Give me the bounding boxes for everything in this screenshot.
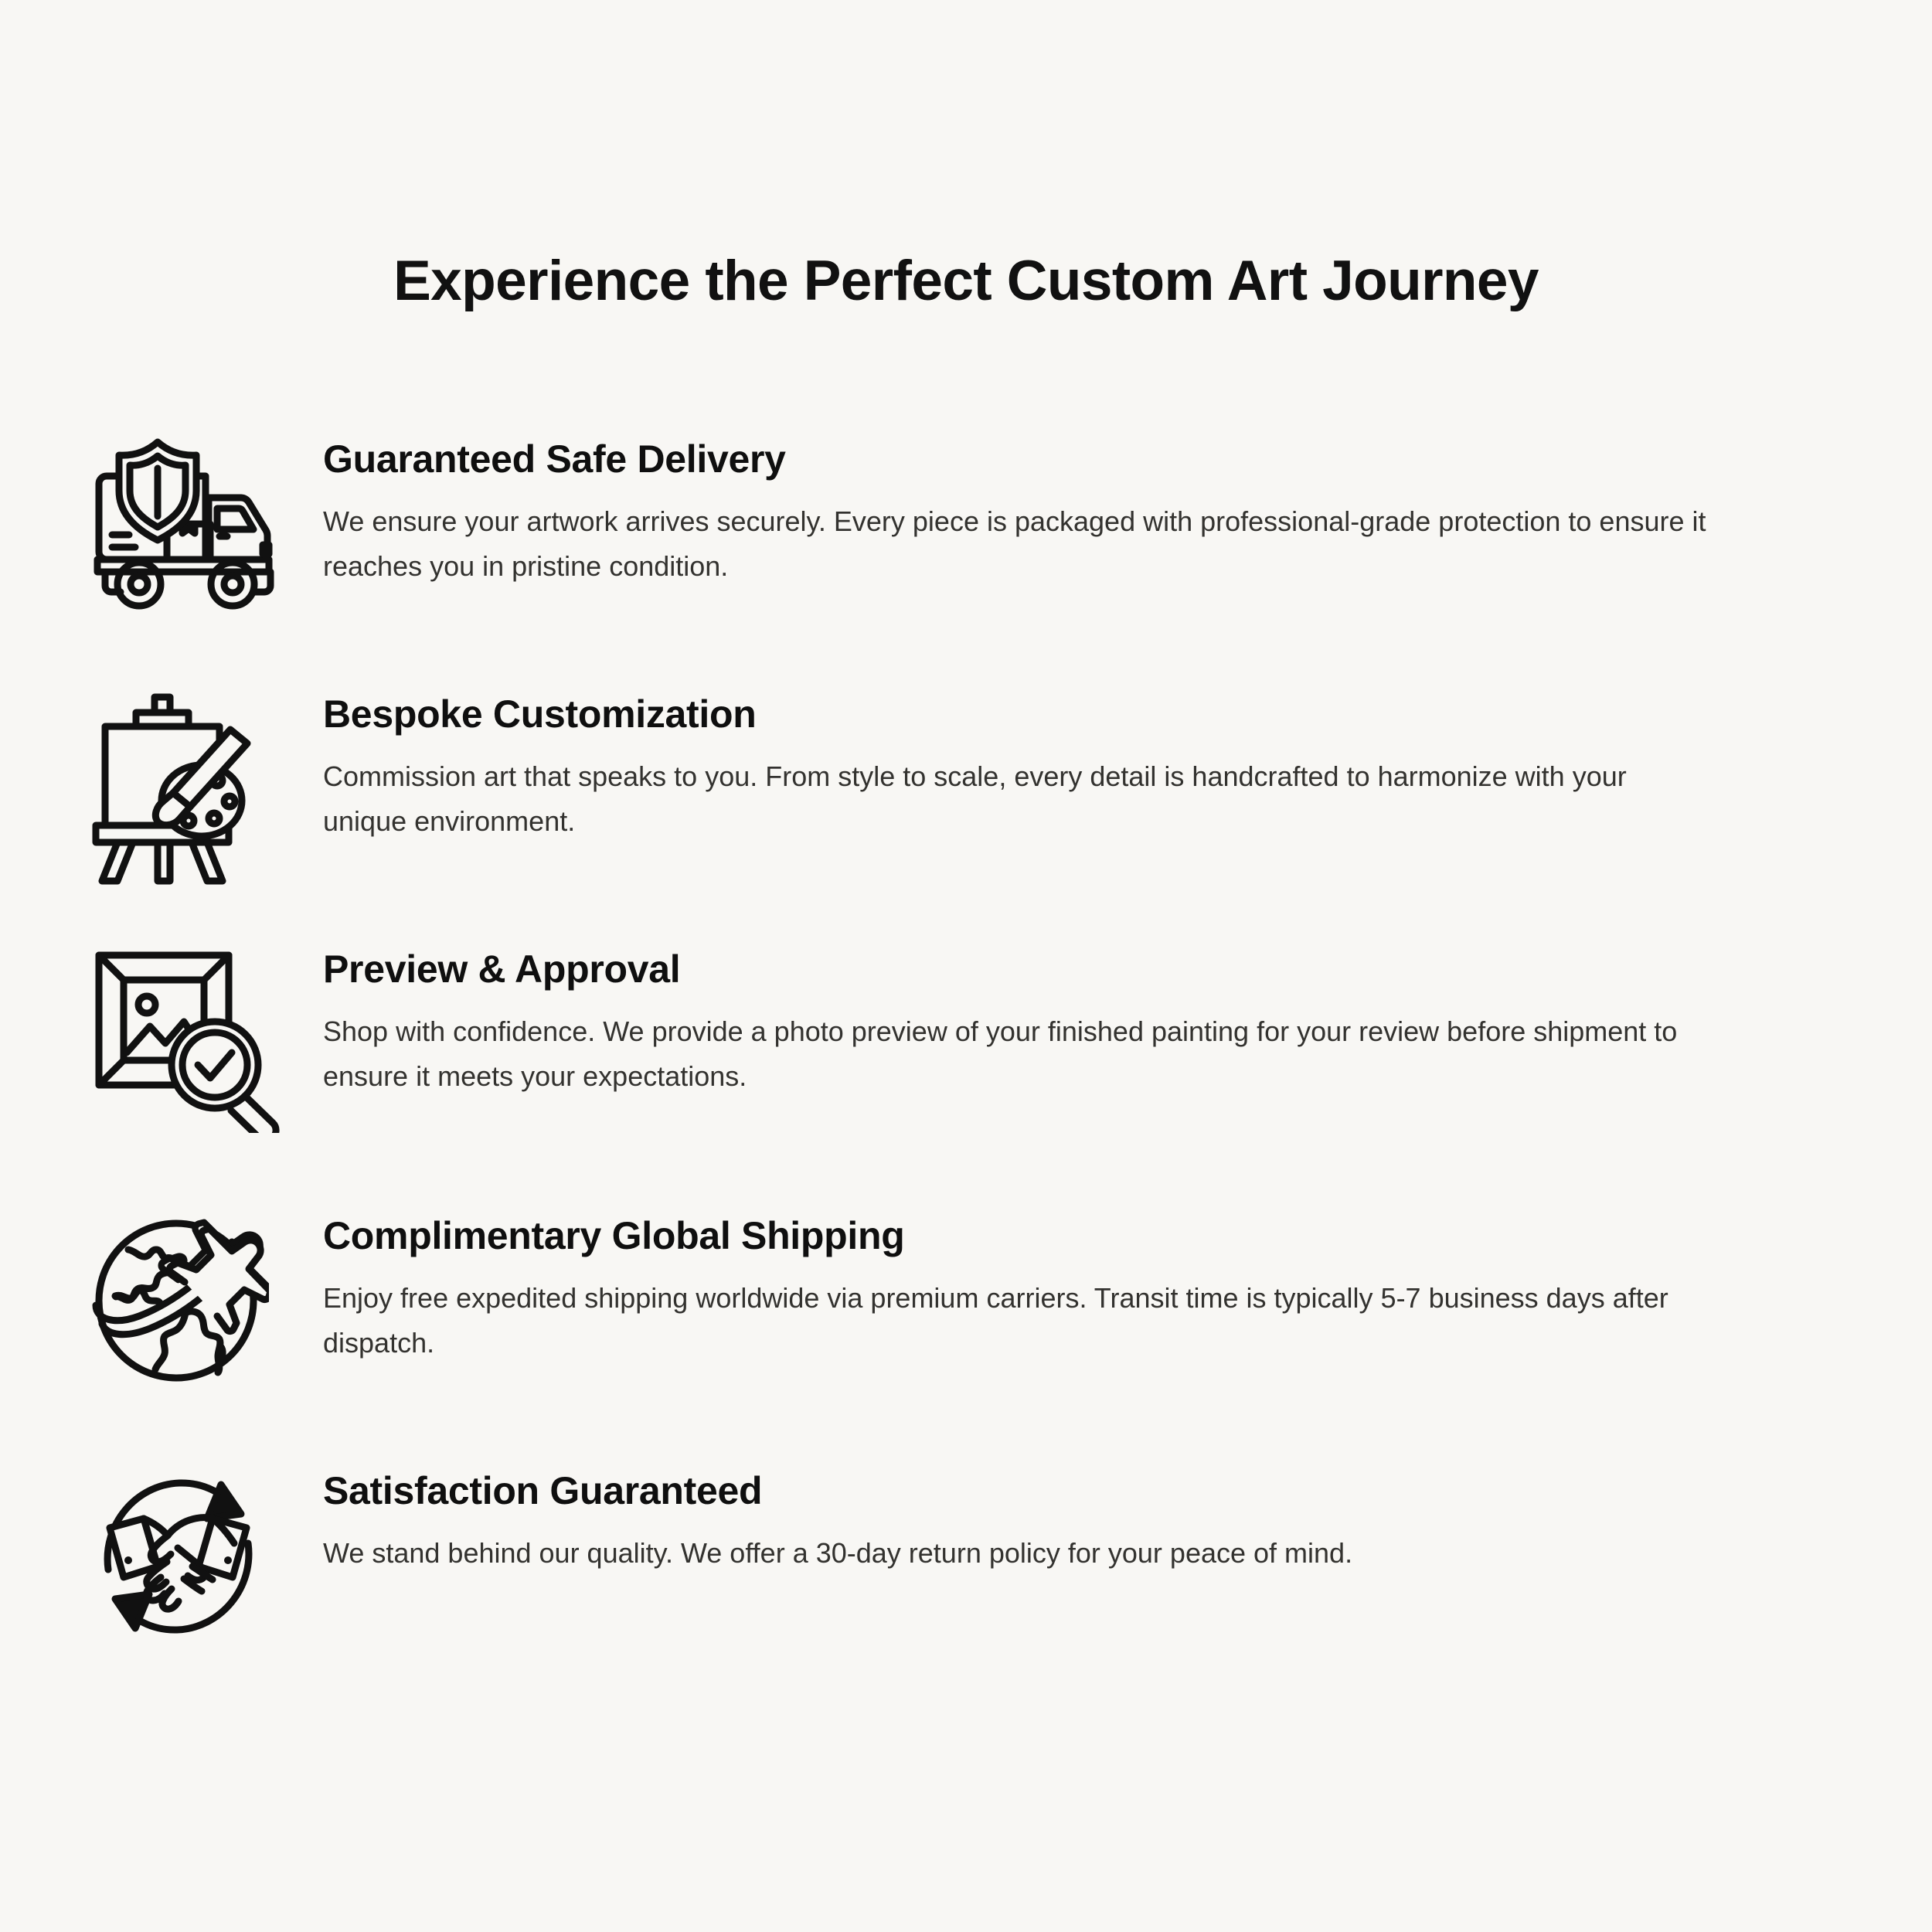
delivery-truck-shield-icon	[91, 433, 323, 634]
feature-item: Preview & Approval Shop with confidence.…	[0, 943, 1932, 1209]
feature-title: Bespoke Customization	[323, 692, 1862, 736]
page-title: Experience the Perfect Custom Art Journe…	[0, 250, 1932, 312]
feature-text: Guaranteed Safe Delivery We ensure your …	[323, 433, 1932, 590]
feature-description: Commission art that speaks to you. From …	[323, 754, 1714, 845]
feature-item: Guaranteed Safe Delivery We ensure your …	[0, 433, 1932, 688]
feature-text: Preview & Approval Shop with confidence.…	[323, 943, 1932, 1100]
feature-item: Complimentary Global Shipping Enjoy free…	[0, 1209, 1932, 1464]
feature-item: Satisfaction Guaranteed We stand behind …	[0, 1464, 1932, 1719]
feature-text: Complimentary Global Shipping Enjoy free…	[323, 1209, 1932, 1366]
feature-title: Preview & Approval	[323, 947, 1862, 991]
feature-title: Complimentary Global Shipping	[323, 1214, 1862, 1257]
feature-title: Satisfaction Guaranteed	[323, 1469, 1862, 1512]
feature-text: Bespoke Customization Commission art tha…	[323, 688, 1932, 845]
easel-palette-brush-icon	[91, 688, 323, 889]
feature-description: We ensure your artwork arrives securely.…	[323, 499, 1714, 590]
benefits-section: Experience the Perfect Custom Art Journe…	[0, 0, 1932, 1932]
feature-title: Guaranteed Safe Delivery	[323, 437, 1862, 481]
globe-airplane-icon	[91, 1209, 323, 1410]
handshake-refresh-arrows-icon	[91, 1464, 323, 1665]
feature-list: Guaranteed Safe Delivery We ensure your …	[0, 433, 1932, 1719]
feature-item: Bespoke Customization Commission art tha…	[0, 688, 1932, 943]
feature-description: Enjoy free expedited shipping worldwide …	[323, 1276, 1760, 1366]
feature-description: We stand behind our quality. We offer a …	[323, 1531, 1838, 1576]
feature-description: Shop with confidence. We provide a photo…	[323, 1009, 1737, 1100]
feature-text: Satisfaction Guaranteed We stand behind …	[323, 1464, 1932, 1576]
framed-picture-magnifier-check-icon	[91, 943, 323, 1144]
